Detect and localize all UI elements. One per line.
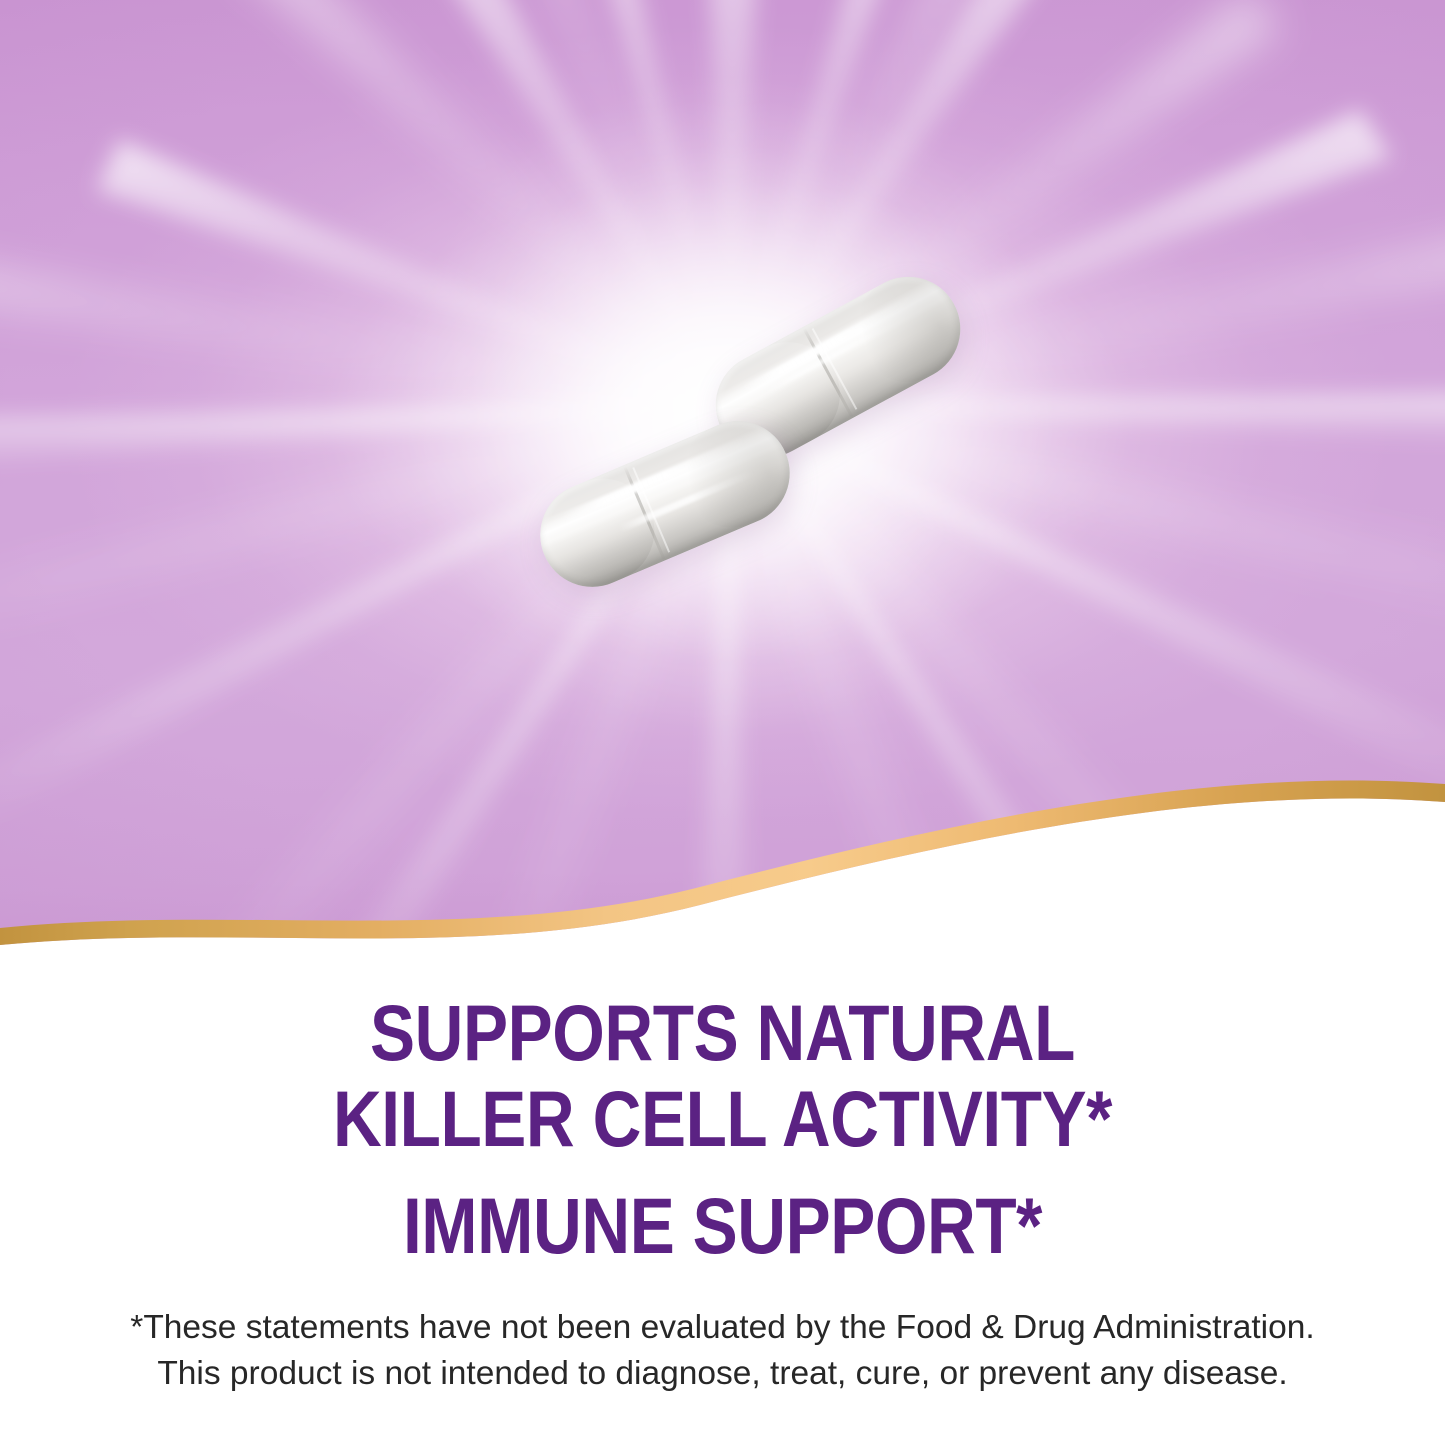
headline-line-1: SUPPORTS NATURAL bbox=[105, 993, 1340, 1072]
fda-disclaimer: *These statements have not been evaluate… bbox=[0, 1305, 1445, 1397]
headline-line-3: IMMUNE SUPPORT* bbox=[105, 1186, 1340, 1265]
headline-line-2: KILLER CELL ACTIVITY* bbox=[105, 1079, 1340, 1158]
product-marketing-panel: SUPPORTS NATURAL KILLER CELL ACTIVITY* I… bbox=[0, 0, 1445, 1445]
fda-disclaimer-line-1: *These statements have not been evaluate… bbox=[0, 1305, 1445, 1351]
fda-disclaimer-line-2: This product is not intended to diagnose… bbox=[0, 1351, 1445, 1397]
gold-wave-divider bbox=[0, 740, 1445, 970]
claims-section: SUPPORTS NATURAL KILLER CELL ACTIVITY* I… bbox=[0, 960, 1445, 1445]
